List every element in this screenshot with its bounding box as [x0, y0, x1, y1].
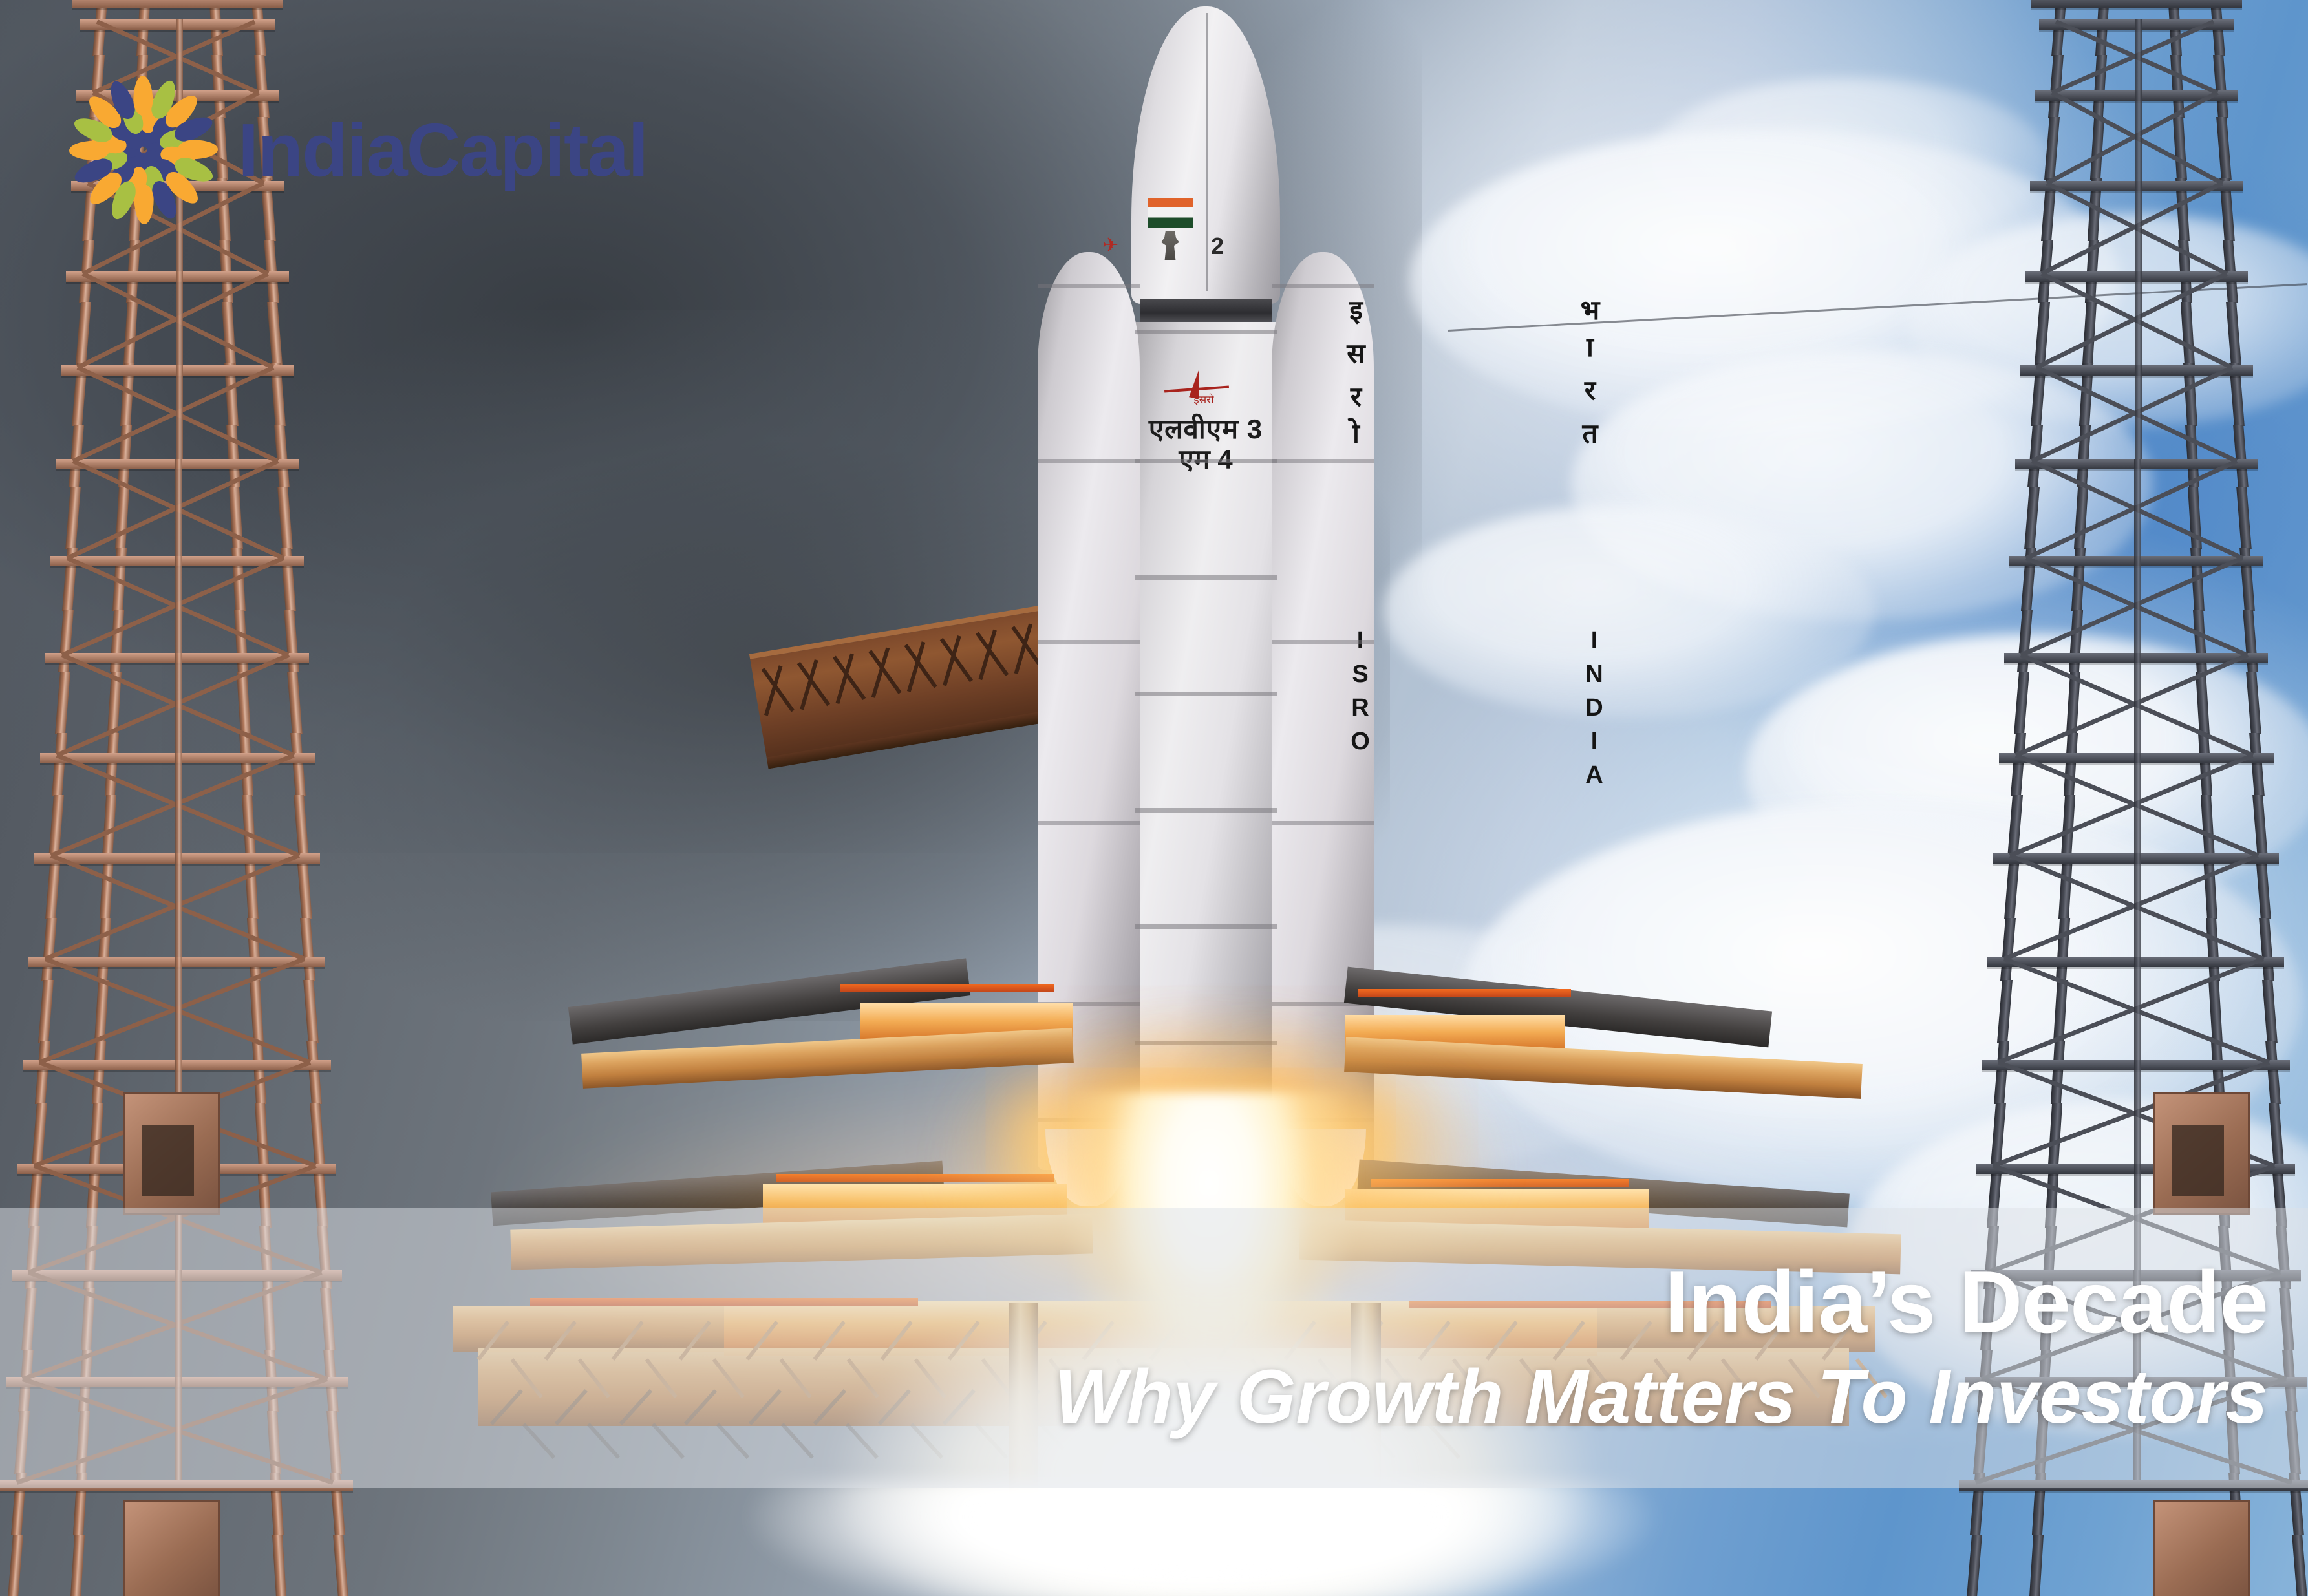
logo-petal — [178, 140, 218, 160]
pad-railing — [840, 984, 1054, 992]
payload-fairing — [1131, 6, 1280, 304]
tower-leg — [2213, 55, 2228, 118]
tower-leg — [2292, 1535, 2307, 1596]
tower-leg — [8, 1535, 23, 1596]
exhaust-bottom-wash — [743, 1480, 1662, 1596]
tower-leg — [91, 1041, 105, 1104]
stage-band — [1135, 924, 1277, 929]
tower-leg — [2206, 918, 2220, 981]
tower-leg — [2017, 610, 2033, 672]
tower-leg — [222, 302, 236, 365]
tower-equipment-box — [123, 1500, 220, 1596]
tower-leg — [303, 980, 319, 1043]
stage-band — [1135, 575, 1277, 580]
tower-top-platform — [72, 0, 283, 8]
tower-leg — [287, 672, 303, 734]
tower-leg — [2216, 117, 2232, 180]
tower-leg — [250, 980, 264, 1043]
tower-leg — [35, 1041, 50, 1104]
stage-band — [1135, 330, 1277, 334]
booster-band — [1038, 821, 1140, 825]
tower-leg — [267, 302, 283, 365]
isro-logo-fairing: ✈ — [1102, 231, 1135, 260]
tower-leg — [32, 1103, 47, 1165]
booster-band — [1038, 640, 1140, 644]
tower-box-window — [142, 1125, 194, 1196]
tower-leg — [1991, 1103, 2006, 1165]
tower-leg — [38, 980, 54, 1043]
tower-brace — [2134, 459, 2141, 556]
tower-leg — [70, 1535, 85, 1596]
brand-logo[interactable]: IndiaCapital — [76, 83, 647, 217]
tower-leg — [2074, 487, 2088, 549]
tower-leg — [45, 857, 61, 919]
booster-band — [1272, 284, 1374, 288]
tower-leg — [1997, 980, 2013, 1043]
tower-brace — [175, 459, 182, 556]
tower-leg — [2064, 733, 2078, 796]
tower-leg — [239, 733, 253, 796]
tower-leg — [2269, 1103, 2284, 1165]
tower-leg — [2243, 610, 2258, 672]
tower-leg — [52, 733, 67, 796]
tower-leg — [2246, 672, 2261, 734]
tower-leg — [41, 918, 57, 981]
tower-leg — [306, 1041, 322, 1104]
tower-brace — [2134, 957, 2141, 1060]
tower-brace — [176, 271, 183, 365]
tower-leg — [333, 1535, 348, 1596]
india-flag-icon — [1148, 198, 1193, 228]
tower-leg — [2069, 610, 2083, 672]
tower-leg — [115, 487, 129, 549]
tower-leg — [294, 795, 309, 858]
tower-equipment-box — [2153, 1500, 2250, 1596]
booster-band — [1038, 284, 1140, 288]
tower-brace — [175, 853, 182, 957]
tower-brace — [2134, 853, 2141, 957]
pad-railing — [1358, 989, 1571, 997]
tower-brace — [2135, 181, 2142, 271]
tower-brace — [176, 19, 183, 90]
tower-leg — [1994, 1041, 2009, 1104]
tower-brace — [2134, 753, 2141, 853]
tower-leg — [89, 1103, 103, 1165]
tower-leg — [2233, 425, 2249, 487]
tower-leg — [2259, 918, 2274, 981]
tower-leg — [2265, 1041, 2281, 1104]
tower-leg — [55, 672, 70, 734]
tower-brace — [2134, 1060, 2141, 1164]
booster-band — [1272, 640, 1374, 644]
tower-brace — [2135, 365, 2142, 459]
tower-leg — [310, 1103, 325, 1165]
stage-band — [1135, 808, 1277, 813]
tower-leg — [65, 487, 81, 549]
title-band: India’s Decade Why Growth Matters To Inv… — [0, 1208, 2308, 1488]
tower-leg — [272, 1535, 286, 1596]
tower-leg — [277, 487, 293, 549]
tower-leg — [2252, 795, 2268, 858]
tower-leg — [2014, 672, 2029, 734]
tower-leg — [2029, 1535, 2044, 1596]
tower-leg — [2249, 733, 2265, 796]
tower-leg — [58, 610, 74, 672]
stage-band — [1135, 692, 1277, 696]
tower-brace — [2135, 19, 2142, 90]
tower-leg — [274, 425, 290, 487]
tower-leg — [2050, 1041, 2064, 1104]
tower-leg — [2090, 117, 2104, 180]
tower-leg — [2011, 733, 2026, 796]
tower-leg — [2256, 857, 2271, 919]
tower-leg — [2004, 857, 2020, 919]
tower-leg — [2173, 117, 2187, 180]
tower-leg — [2236, 487, 2252, 549]
booster-band — [1038, 459, 1140, 463]
tower-brace — [175, 753, 182, 853]
tower-leg — [100, 857, 114, 919]
tower-leg — [2226, 302, 2241, 365]
tower-leg — [2035, 302, 2050, 365]
tower-leg — [123, 302, 137, 365]
tower-leg — [255, 1103, 269, 1165]
tower-leg — [297, 857, 312, 919]
tower-leg — [2208, 980, 2223, 1043]
tower-brace — [2134, 653, 2141, 753]
booster-band — [1272, 459, 1374, 463]
tower-brace — [175, 957, 182, 1060]
tower-leg — [2201, 795, 2215, 858]
tower-leg — [2000, 918, 2016, 981]
tower-leg — [300, 918, 315, 981]
tower-leg — [234, 610, 248, 672]
tower-leg — [2262, 980, 2278, 1043]
tower-leg — [2196, 672, 2210, 734]
tower-leg — [2193, 610, 2207, 672]
tower-leg — [2024, 487, 2040, 549]
booster-right-hindi-label: भारत — [1272, 291, 1608, 458]
tower-brace — [2134, 556, 2141, 653]
tower-brace — [175, 556, 182, 653]
tower-leg — [76, 302, 91, 365]
booster-right-english-label: INDIA — [1272, 627, 1608, 795]
tower-leg — [1967, 1535, 1982, 1596]
tower-leg — [2044, 117, 2060, 180]
page-subtitle: Why Growth Matters To Investors — [1054, 1356, 2268, 1438]
tower-leg — [244, 857, 259, 919]
tower-leg — [2198, 733, 2212, 796]
page-title: India’s Decade — [1665, 1257, 2268, 1347]
tower-leg — [242, 795, 256, 858]
tower-leg — [110, 610, 124, 672]
tower-leg — [2058, 857, 2073, 919]
brand-wordmark: IndiaCapital — [238, 112, 647, 187]
tower-leg — [2203, 857, 2217, 919]
tower-leg — [105, 733, 119, 796]
tower-leg — [2056, 918, 2070, 981]
tower-brace — [2135, 271, 2142, 365]
slide-canvas: ✈ 2 इसरो एलवीएम 3 एम 4 इसरो ISRO भारत IN… — [0, 0, 2308, 1596]
stage-band — [1135, 459, 1277, 463]
tower-leg — [2082, 302, 2096, 365]
tower-leg — [2181, 302, 2195, 365]
tower-brace — [175, 653, 182, 753]
tower-brace — [176, 365, 183, 459]
tower-leg — [2093, 55, 2107, 118]
fairing-number: 2 — [1211, 233, 1224, 260]
tower-leg — [284, 610, 299, 672]
tower-leg — [2047, 1103, 2062, 1165]
tower-leg — [247, 918, 261, 981]
tower-leg — [237, 672, 251, 734]
tower-top-platform — [2031, 0, 2242, 8]
tower-brace — [2135, 90, 2142, 181]
booster-band — [1272, 821, 1374, 825]
tower-leg — [252, 1041, 266, 1104]
tower-box-window — [2172, 1125, 2224, 1196]
tower-leg — [290, 733, 306, 796]
tower-leg — [97, 918, 111, 981]
flower-mandala-logo-icon — [76, 83, 211, 217]
